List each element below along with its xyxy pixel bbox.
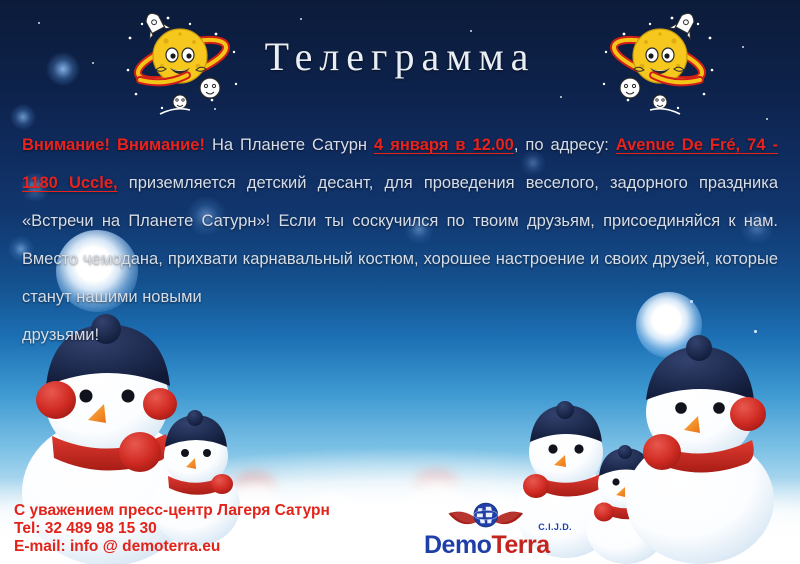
- event-datetime: 4 января в 12.00: [374, 136, 514, 154]
- contact-block: С уважением пресс-центр Лагеря Сатурн Te…: [14, 502, 330, 556]
- poster-header: Телеграмма: [0, 0, 800, 122]
- demoterra-logo[interactable]: C.I.J.D. DemoTerra: [424, 500, 574, 558]
- intro-text: На Планете Сатурн: [205, 136, 374, 154]
- demoterra-word-terra: Terra: [491, 531, 549, 559]
- body-remainder: приземляется детский десант, для проведе…: [22, 174, 778, 306]
- press-center-signature: С уважением пресс-центр Лагеря Сатурн: [14, 502, 330, 520]
- contact-email[interactable]: E-mail: info @ demoterra.eu: [14, 538, 330, 556]
- demoterra-wordmark: DemoTerra: [424, 533, 550, 558]
- announcement-paragraph: Внимание! Внимание! На Планете Сатурн 4 …: [22, 126, 778, 316]
- address-lead-in: , по адресу:: [514, 136, 616, 154]
- announcement-body: Внимание! Внимание! На Планете Сатурн 4 …: [22, 126, 778, 354]
- contact-phone[interactable]: Tel: 32 489 98 15 30: [14, 520, 330, 538]
- body-last-line: друзьями!: [22, 316, 778, 354]
- poster-canvas: Телеграмма Внимание! Внимание! На Планет…: [0, 0, 800, 564]
- page-title: Телеграмма: [0, 33, 800, 80]
- attention-text: Внимание! Внимание!: [22, 136, 205, 154]
- demoterra-word-demo: Demo: [424, 531, 491, 559]
